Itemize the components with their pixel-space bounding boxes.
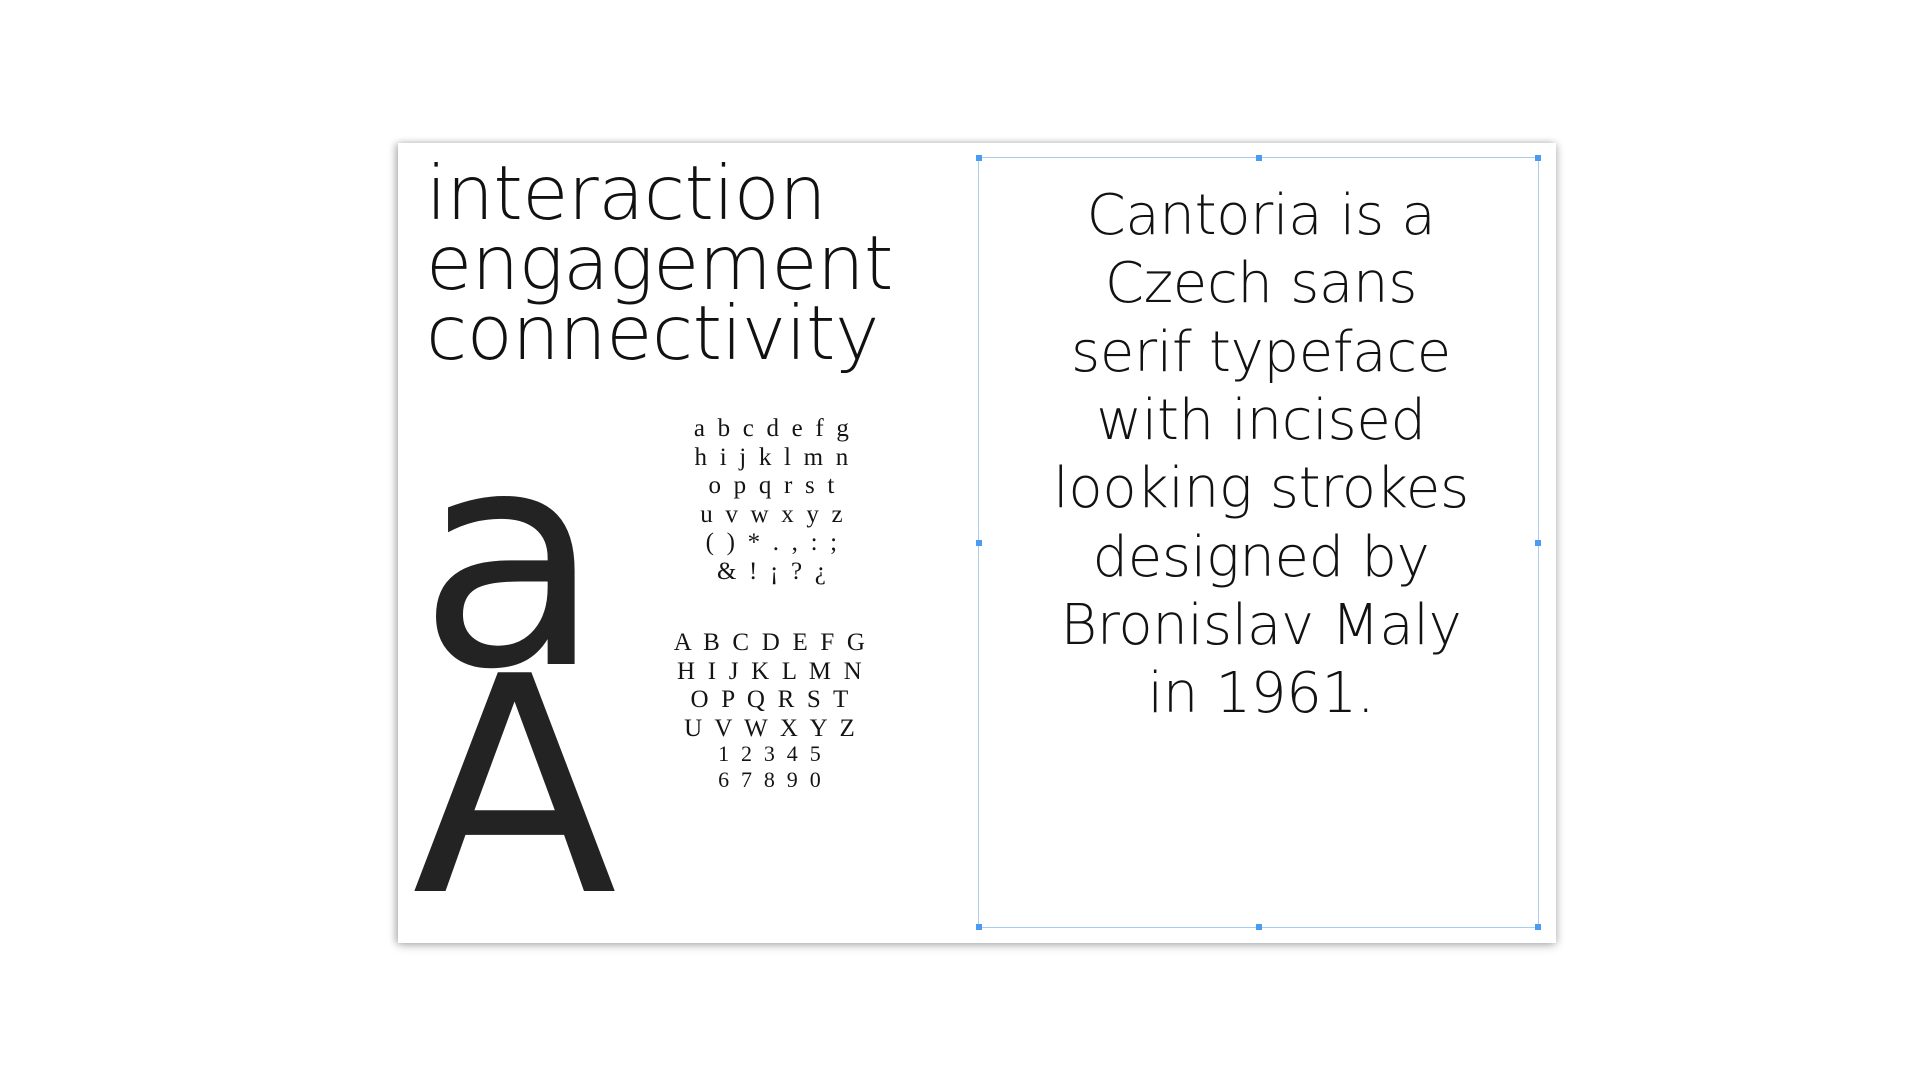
- resize-handle-top-left[interactable]: [976, 155, 982, 161]
- description-line: Cantoria is a: [1087, 183, 1436, 248]
- description-line: Bronislav Maly: [1061, 593, 1462, 658]
- description-line: in 1961.: [1148, 661, 1375, 726]
- charset-row: a b c d e f g: [658, 415, 888, 444]
- resize-handle-bottom-right[interactable]: [1535, 924, 1541, 930]
- charset-uppercase-block[interactable]: A B C D E F G H I J K L M N O P Q R S T …: [656, 629, 886, 743]
- charset-numerals-block[interactable]: 1 2 3 4 5 6 7 8 9 0: [656, 741, 886, 793]
- description-line: designed by: [1092, 525, 1429, 590]
- charset-row-punctuation: & ! ¡ ? ¿: [658, 558, 888, 587]
- selected-text-box[interactable]: Cantoria is a Czech sans serif typeface …: [978, 157, 1539, 928]
- description-line: Czech sans: [1105, 251, 1417, 316]
- resize-handle-bottom-left[interactable]: [976, 924, 982, 930]
- charset-row: H I J K L M N: [656, 658, 886, 687]
- specimen-left-pane: interaction engagement connectivity a A …: [398, 143, 978, 943]
- charset-row-numerals: 1 2 3 4 5: [656, 741, 886, 767]
- description-line: with incised: [1096, 388, 1426, 453]
- charset-row: U V W X Y Z: [656, 715, 886, 744]
- charset-row: o p q r s t: [658, 472, 888, 501]
- charset-row: u v w x y z: [658, 501, 888, 530]
- resize-handle-middle-left[interactable]: [976, 540, 982, 546]
- resize-handle-top-right[interactable]: [1535, 155, 1541, 161]
- resize-handle-top-center[interactable]: [1256, 155, 1262, 161]
- charset-row-numerals: 6 7 8 9 0: [656, 767, 886, 793]
- slide-canvas[interactable]: interaction engagement connectivity a A …: [398, 143, 1556, 943]
- description-line: serif typeface: [1071, 320, 1451, 385]
- charset-row: A B C D E F G: [656, 629, 886, 658]
- resize-handle-middle-right[interactable]: [1535, 540, 1541, 546]
- editor-canvas-area: interaction engagement connectivity a A …: [0, 0, 1920, 1080]
- resize-handle-bottom-center[interactable]: [1256, 924, 1262, 930]
- description-right-pane: Cantoria is a Czech sans serif typeface …: [978, 143, 1556, 943]
- headline-line-3: connectivity: [426, 299, 986, 369]
- description-text-block[interactable]: Cantoria is a Czech sans serif typeface …: [1015, 182, 1507, 729]
- headline-text-block[interactable]: interaction engagement connectivity: [426, 159, 986, 368]
- description-line: looking strokes: [1053, 456, 1469, 521]
- charset-lowercase-block[interactable]: a b c d e f g h i j k l m n o p q r s t …: [658, 415, 888, 586]
- charset-row: O P Q R S T: [656, 686, 886, 715]
- charset-row-punctuation: ( ) * . , : ;: [658, 529, 888, 558]
- charset-row: h i j k l m n: [658, 444, 888, 473]
- display-glyph-uppercase-a[interactable]: A: [412, 638, 617, 938]
